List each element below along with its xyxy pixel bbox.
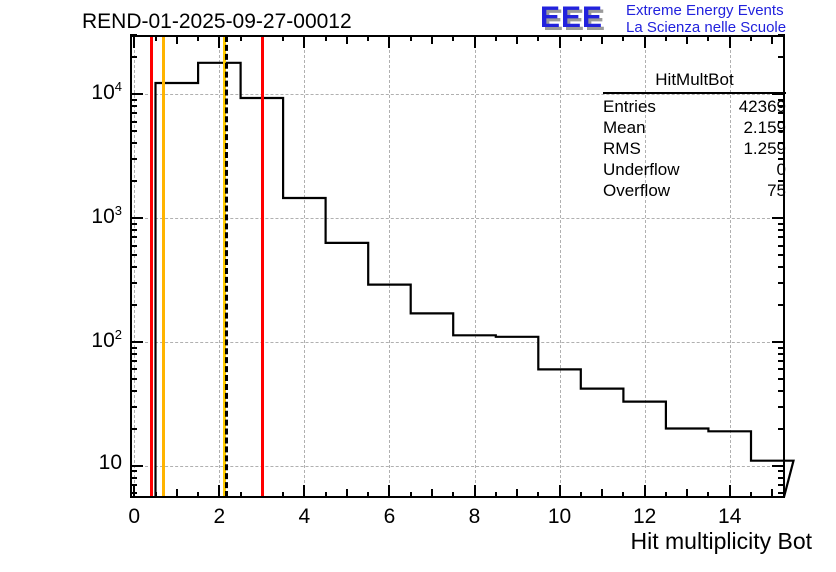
stats-row: RMS 1.259 [603,138,786,159]
stats-row: Underflow 0 [603,159,786,180]
stats-value: 42369 [739,96,786,117]
stats-row: Entries 42369 [603,96,786,117]
stats-row: Mean 2.159 [603,117,786,138]
stats-key: Underflow [603,159,680,180]
stats-key: Overflow [603,180,670,201]
stats-key: RMS [603,138,641,159]
stats-value: 2.159 [743,117,786,138]
stats-key: Mean [603,117,646,138]
stats-key: Entries [603,96,656,117]
plot-canvas: REND-01-2025-09-27-00012 EEE Extreme Ene… [0,0,836,572]
stats-value: 0 [777,159,786,180]
stats-title: HitMultBot [603,70,786,94]
stats-value: 75 [767,180,786,201]
stats-row: Overflow 75 [603,180,786,201]
stats-value: 1.259 [743,138,786,159]
x-axis-title: Hit multiplicity Bot [631,528,812,555]
stats-box: HitMultBot Entries 42369 Mean 2.159 RMS … [603,70,786,201]
